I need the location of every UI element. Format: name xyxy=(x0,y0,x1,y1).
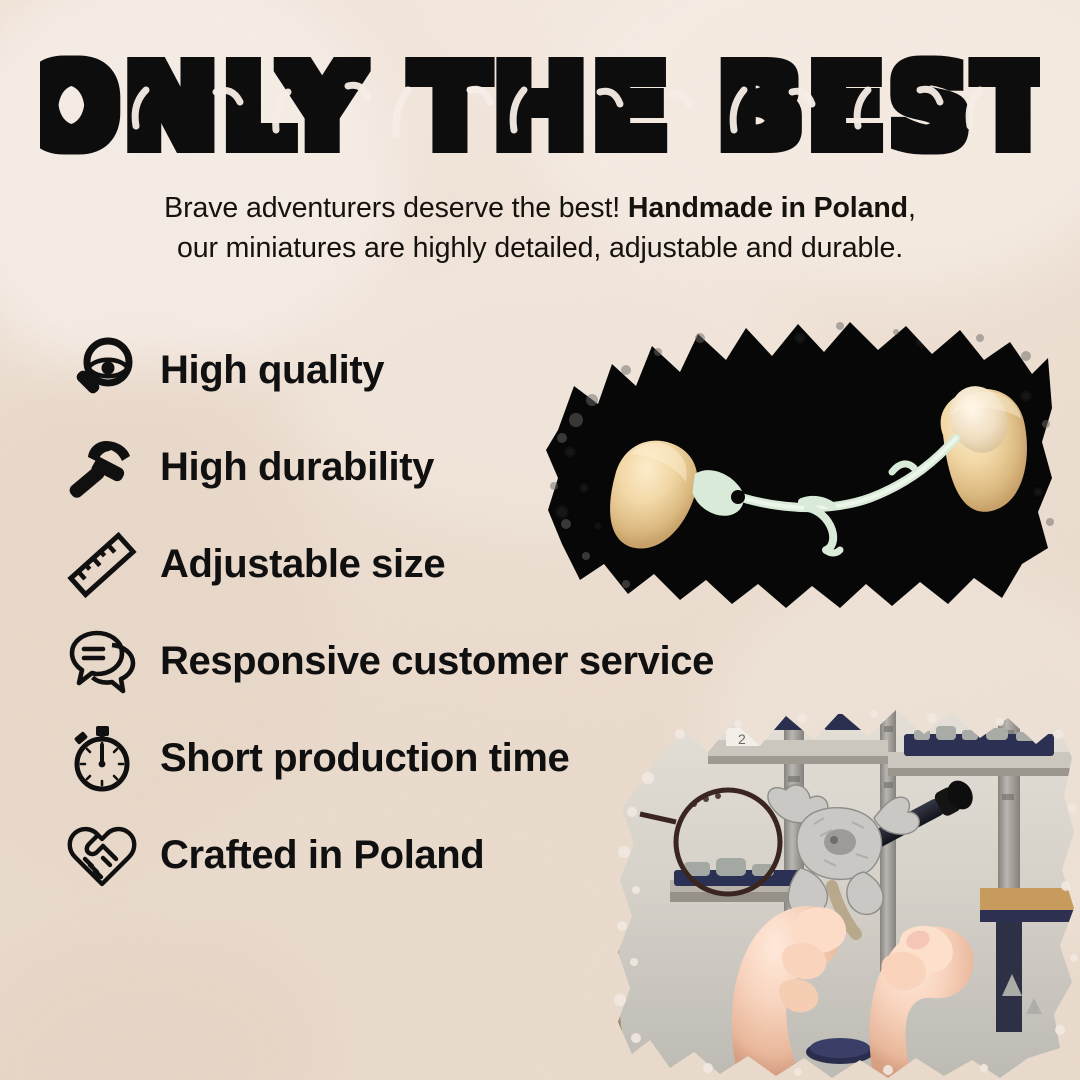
infographic-poster: ONLY THE BEST Brave adventu xyxy=(0,0,1080,1080)
painting-workshop-photo: 2 xyxy=(588,700,1080,1080)
svg-text:ONLY THE BEST: ONLY THE BEST xyxy=(40,43,1040,173)
subtitle: Brave adventurers deserve the best! Hand… xyxy=(60,188,1020,269)
magnifier-eye-icon xyxy=(62,331,142,411)
feature-label: Short production time xyxy=(160,736,569,781)
headline-container: ONLY THE BEST xyxy=(0,34,1080,189)
feature-item-customer-service: Responsive customer service xyxy=(62,613,802,710)
feature-label: Crafted in Poland xyxy=(160,833,484,878)
subtitle-bold: Handmade in Poland xyxy=(628,192,908,224)
hammer-icon xyxy=(62,428,142,508)
stopwatch-icon xyxy=(62,719,142,799)
subtitle-tail: , xyxy=(908,192,916,224)
speech-bubbles-icon xyxy=(62,622,142,702)
heart-handshake-icon xyxy=(62,816,142,896)
subtitle-line-1: Brave adventurers deserve the best! Hand… xyxy=(164,192,916,224)
page-title: ONLY THE BEST xyxy=(40,34,1040,184)
feature-label: High durability xyxy=(160,445,434,490)
subtitle-line-2: our miniatures are highly detailed, adju… xyxy=(177,232,903,264)
feature-label: Responsive customer service xyxy=(160,639,714,684)
svg-text:2: 2 xyxy=(738,731,746,747)
subtitle-lead: Brave adventurers deserve the best! xyxy=(164,192,628,224)
feature-label: High quality xyxy=(160,348,384,393)
feature-label: Adjustable size xyxy=(160,542,445,587)
flexing-miniature-photo xyxy=(540,312,1060,612)
ruler-icon xyxy=(62,525,142,605)
